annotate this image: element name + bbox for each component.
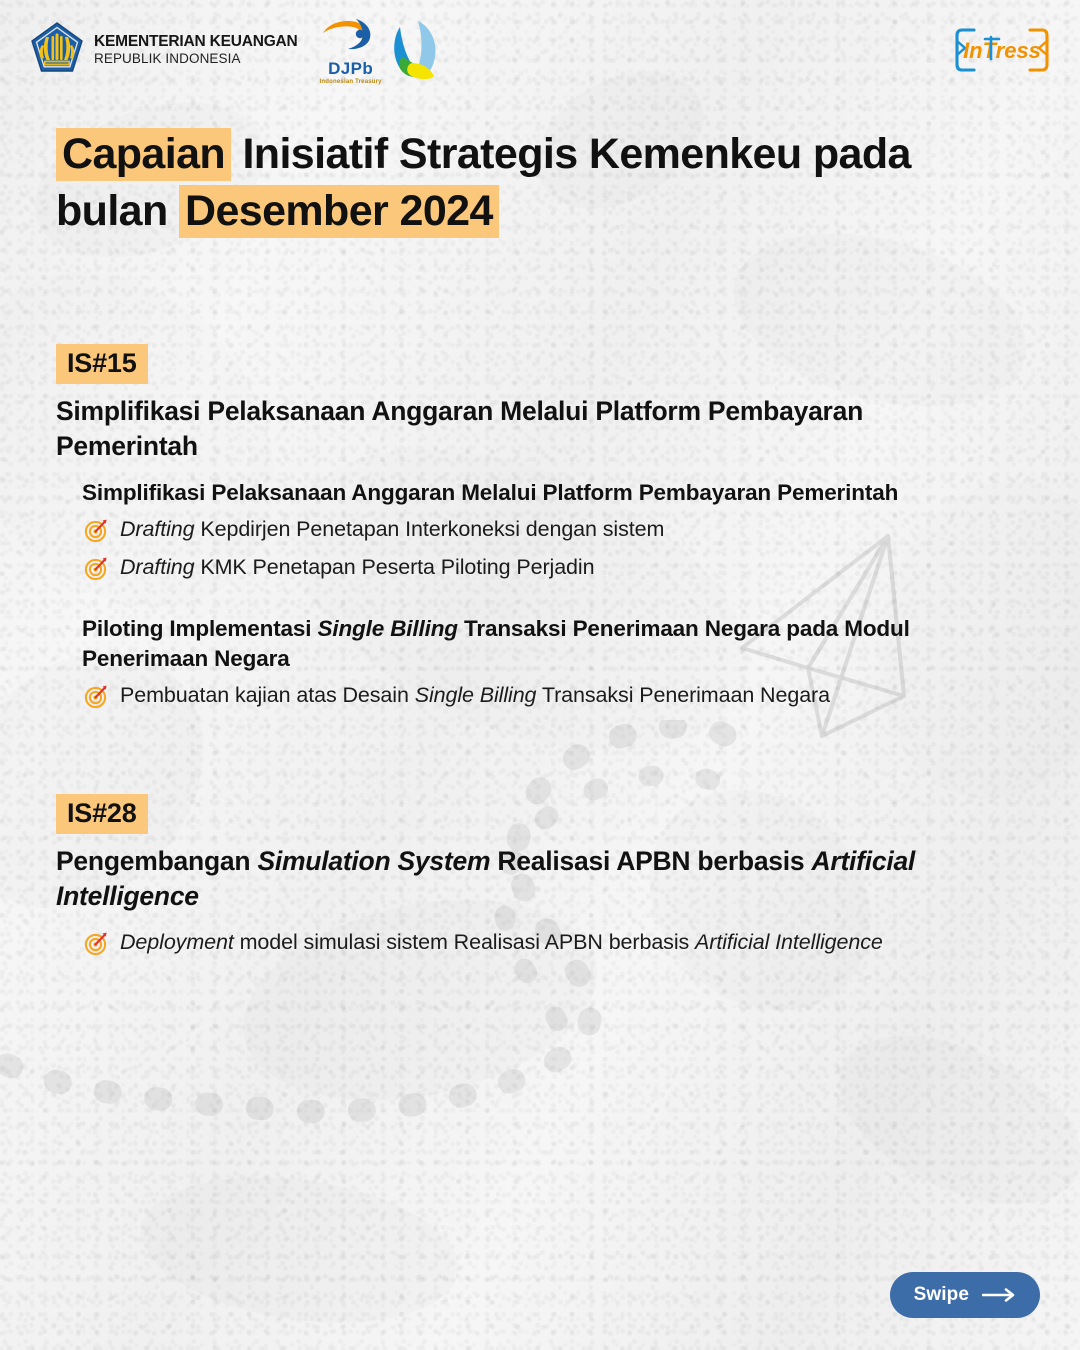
page-title-line-1: Capaian Inisiatif Strategis Kemenkeu pad… [56, 126, 1016, 183]
is-section-28: IS#28 Pengembangan Simulation System Rea… [56, 794, 1024, 961]
page-header: KEMENTERIAN KEUANGAN REPUBLIK INDONESIA … [0, 0, 1080, 100]
svg-text:InTress: InTress [963, 38, 1041, 63]
djpb-swoosh-icon [320, 16, 376, 52]
bullet-item: Deployment model simulasi sistem Realisa… [82, 928, 1024, 961]
is-title-28: Pengembangan Simulation System Realisasi… [56, 844, 986, 914]
is-section-15: IS#15 Simplifikasi Pelaksanaan Anggaran … [56, 344, 1024, 714]
djpb-wordmark-text: DJPb [320, 59, 382, 79]
is-subgroup-15-0: Simplifikasi Pelaksanaan Anggaran Melalu… [56, 478, 1024, 585]
swipe-button[interactable]: Swipe [890, 1272, 1040, 1318]
is-subtitle-15-1: Piloting Implementasi Single Billing Tra… [82, 614, 1002, 675]
is-title-15: Simplifikasi Pelaksanaan Anggaran Melalu… [56, 394, 986, 464]
bullet-text: Drafting KMK Penetapan Peserta Piloting … [120, 553, 594, 583]
text-run: KMK Penetapan Peserta Piloting Perjadin [200, 555, 594, 579]
text-run-italic: Drafting [120, 555, 200, 579]
is-badge-15: IS#15 [56, 344, 148, 384]
djpb-subtitle-text: Indonesian Treasury [320, 79, 382, 85]
is-bullets-15-0: Drafting Kepdirjen Penetapan Interkoneks… [82, 515, 1024, 586]
target-dart-icon [84, 556, 109, 586]
is-badge-28: IS#28 [56, 794, 148, 834]
text-run: Kepdirjen Penetapan Interkoneksi dengan … [200, 517, 664, 541]
target-dart-icon [84, 518, 109, 548]
is-subgroup-28-0: Deployment model simulasi sistem Realisa… [56, 928, 1024, 961]
target-dart-icon [84, 684, 109, 714]
target-dart-icon [84, 931, 109, 956]
page-title-highlight-1: Capaian [56, 128, 231, 181]
text-run: Piloting Implementasi [82, 616, 318, 641]
kemenkeu-line2: REPUBLIK INDONESIA [94, 51, 298, 67]
bullet-item: Drafting Kepdirjen Penetapan Interkoneks… [82, 515, 1024, 548]
text-run-italic: Single Billing [318, 616, 458, 641]
text-run: Pembuatan kajian atas Desain [120, 683, 415, 707]
text-run-italic: Artificial Intelligence [695, 930, 883, 954]
text-run-italic: Single Billing [415, 683, 537, 707]
kemenkeu-garuda-crest-icon [30, 21, 84, 79]
djpb-petal-icon [388, 19, 442, 81]
swipe-button-label: Swipe [914, 1284, 969, 1306]
arrow-right-icon [982, 1288, 1016, 1302]
text-run-italic: Simulation System [257, 846, 490, 876]
bullet-item: Pembuatan kajian atas Desain Single Bill… [82, 681, 1024, 714]
logo-group-left: KEMENTERIAN KEUANGAN REPUBLIK INDONESIA … [30, 16, 442, 85]
target-dart-icon [84, 518, 109, 543]
text-run: Simplifikasi Pelaksanaan Anggaran Melalu… [82, 480, 898, 505]
kemenkeu-wordmark: KEMENTERIAN KEUANGAN REPUBLIK INDONESIA [94, 33, 298, 67]
djpb-logo: DJPb Indonesian Treasury [320, 16, 442, 85]
text-run: Pengembangan [56, 846, 257, 876]
is-bullets-15-1: Pembuatan kajian atas Desain Single Bill… [82, 681, 1024, 714]
is-subtitle-15-0: Simplifikasi Pelaksanaan Anggaran Melalu… [82, 478, 1002, 508]
is-subgroup-15-1: Piloting Implementasi Single Billing Tra… [56, 614, 1024, 714]
text-run: Realisasi APBN berbasis [490, 846, 811, 876]
text-run-italic: Deployment [120, 930, 240, 954]
page-title-plain-1: Inisiatif Strategis Kemenkeu pada [242, 130, 910, 178]
intress-bracket-logo-icon: InTress [954, 26, 1050, 74]
target-dart-icon [84, 684, 109, 709]
text-run: Simplifikasi Pelaksanaan Anggaran Melalu… [56, 396, 863, 461]
target-dart-icon [84, 556, 109, 581]
page-title-highlight-2: Desember 2024 [179, 185, 499, 238]
text-run: Transaksi Penerimaan Negara [536, 683, 830, 707]
bullet-text: Deployment model simulasi sistem Realisa… [120, 928, 883, 958]
kemenkeu-line1: KEMENTERIAN KEUANGAN [94, 33, 298, 51]
is-bullets-28-0: Deployment model simulasi sistem Realisa… [82, 928, 1024, 961]
page-title-line-2: bulan Desember 2024 [56, 183, 1016, 240]
bullet-text: Drafting Kepdirjen Penetapan Interkoneks… [120, 515, 664, 545]
text-run: model simulasi sistem Realisasi APBN ber… [240, 930, 695, 954]
bullet-text: Pembuatan kajian atas Desain Single Bill… [120, 681, 830, 711]
target-dart-icon [84, 931, 109, 961]
text-run-italic: Drafting [120, 517, 200, 541]
page-title: Capaian Inisiatif Strategis Kemenkeu pad… [56, 126, 1016, 240]
page-title-plain-2: bulan [56, 187, 168, 235]
bullet-item: Drafting KMK Penetapan Peserta Piloting … [82, 553, 1024, 586]
